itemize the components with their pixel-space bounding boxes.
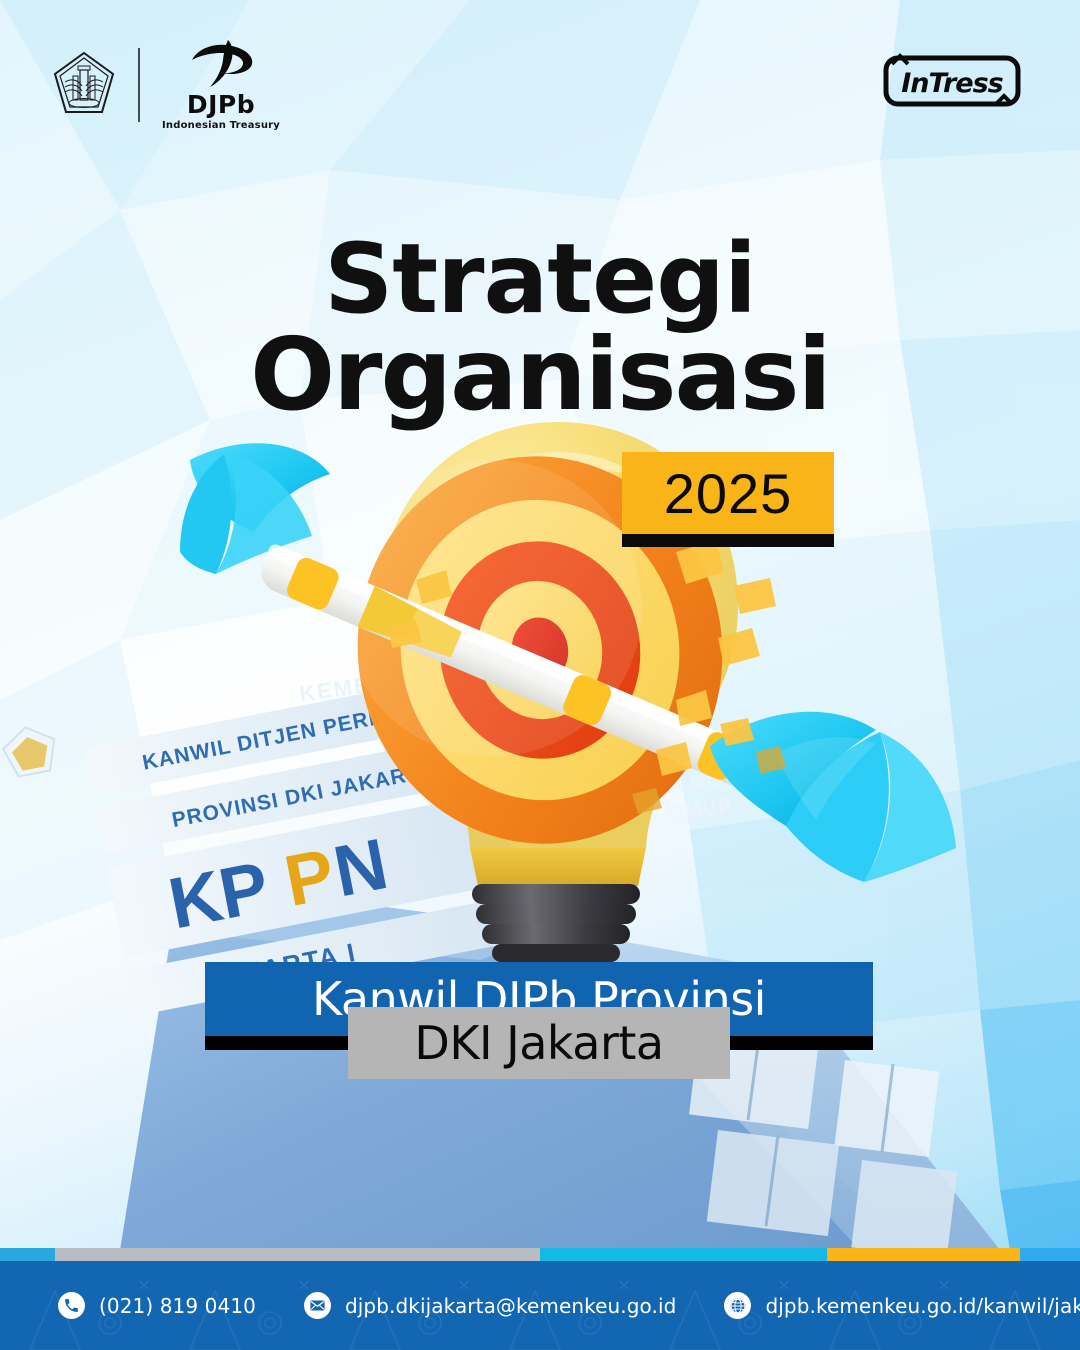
djpb-tagline: Indonesian Treasury: [162, 120, 280, 131]
header-bar: DJPb Indonesian Treasury InTress: [0, 0, 1080, 150]
globe-icon: [724, 1292, 751, 1319]
footer-contact-bar: (021) 819 0410 djpb.dkijakarta@kemenkeu.…: [0, 1261, 1080, 1350]
organization-line-2: DKI Jakarta: [414, 1016, 663, 1070]
djpb-wordmark: DJPb: [187, 92, 255, 117]
djpb-swoosh-icon: [184, 38, 258, 90]
envelope-icon: [304, 1292, 331, 1319]
website-url: djpb.kemenkeu.go.id/kanwil/jakarta: [765, 1294, 1080, 1318]
accent-strip-segment-3: [827, 1248, 1020, 1261]
logo-divider: [138, 48, 140, 122]
year-label: 2025: [664, 461, 793, 526]
kemenkeu-logo-icon: [52, 50, 116, 120]
accent-strip-segment-1: [55, 1248, 540, 1261]
year-badge: 2025: [622, 452, 834, 547]
accent-strip-segment-4: [1020, 1248, 1080, 1261]
logo-lockup-left: DJPb Indonesian Treasury: [52, 38, 280, 131]
phone-number: (021) 819 0410: [99, 1294, 256, 1318]
contact-website[interactable]: djpb.kemenkeu.go.id/kanwil/jakarta: [724, 1292, 1080, 1319]
organization-line-2-box: DKI Jakarta: [348, 1007, 730, 1079]
djpb-logo-lockup: DJPb Indonesian Treasury: [162, 38, 280, 131]
contact-email[interactable]: djpb.dkijakarta@kemenkeu.go.id: [304, 1292, 677, 1319]
contact-list: (021) 819 0410 djpb.dkijakarta@kemenkeu.…: [0, 1261, 1080, 1350]
contact-phone[interactable]: (021) 819 0410: [58, 1292, 256, 1319]
svg-text:InTress: InTress: [901, 68, 1003, 99]
accent-color-strip: [0, 1248, 1080, 1261]
accent-strip-segment-0: [0, 1248, 55, 1261]
phone-icon: [58, 1292, 85, 1319]
accent-strip-segment-2: [540, 1248, 827, 1261]
lightbulb-target-dart-illustration: [120, 400, 980, 980]
poster-canvas: KEMENTERIAN KEUANGAN DIREKTORAT JENDERAL…: [0, 0, 1080, 1350]
year-shadow-bar: [622, 534, 834, 547]
year-box: 2025: [622, 452, 834, 534]
intress-logo: InTress: [882, 52, 1022, 110]
email-address: djpb.dkijakarta@kemenkeu.go.id: [345, 1294, 677, 1318]
